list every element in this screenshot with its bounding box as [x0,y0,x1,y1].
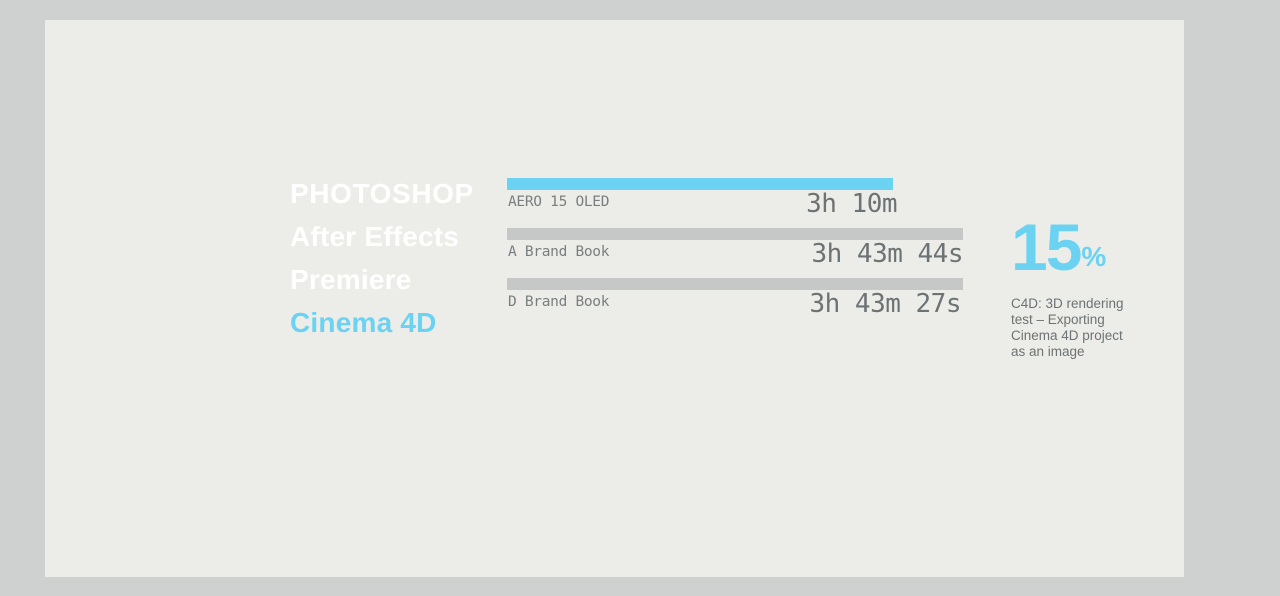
app-list-item-label: Cinema 4D [290,307,437,338]
chart-row: AERO 15 OLED 3h 10m [507,178,963,228]
app-list-item-premiere[interactable]: Premiere [290,258,490,301]
chart-row: A Brand Book 3h 43m 44s [507,228,963,278]
app-list-item-label: After Effects [290,221,459,252]
bar-value-label: 3h 43m 44s [811,239,963,269]
benchmark-bar-chart: AERO 15 OLED 3h 10m A Brand Book 3h 43m … [507,178,963,328]
bar-value-label: 3h 43m 27s [809,289,961,319]
slide-canvas: PHOTOSHOP After Effects Premiere Cinema … [0,0,1280,596]
stat-number: 15 [1011,220,1080,274]
app-list: PHOTOSHOP After Effects Premiere Cinema … [290,172,490,344]
app-list-item-label: PHOTOSHOP [290,178,474,209]
app-list-item-photoshop[interactable]: PHOTOSHOP [290,172,490,215]
stat-description: C4D: 3D rendering test – Exporting Cinem… [1011,296,1137,360]
app-list-item-after-effects[interactable]: After Effects [290,215,490,258]
app-list-item-cinema-4d[interactable]: Cinema 4D [290,301,490,344]
stat-unit: % [1081,243,1106,274]
app-list-item-label: Premiere [290,264,411,295]
stat-figure: 15 % [1011,220,1181,274]
chart-row: D Brand Book 3h 43m 27s [507,278,963,328]
performance-stat: 15 % C4D: 3D rendering test – Exporting … [1011,220,1181,360]
bar-category-label: AERO 15 OLED [508,194,609,210]
bar-value-label: 3h 10m [806,189,897,219]
slide-panel: PHOTOSHOP After Effects Premiere Cinema … [45,20,1184,577]
bar-category-label: A Brand Book [508,244,609,260]
bar-category-label: D Brand Book [508,294,609,310]
